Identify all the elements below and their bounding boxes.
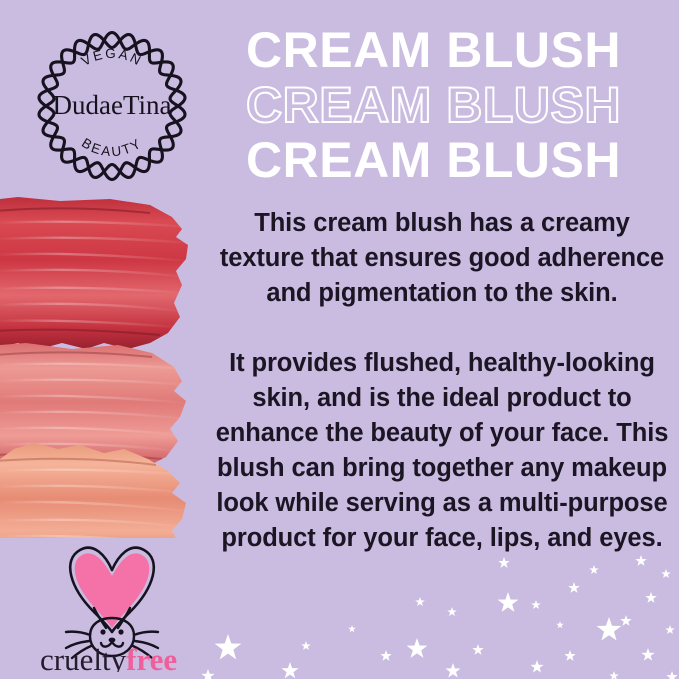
hero-line-2: CREAM BLUSH bbox=[246, 78, 666, 133]
product-description: This cream blush has a creamy texture th… bbox=[214, 206, 670, 556]
hero-line-3: CREAM BLUSH bbox=[246, 133, 666, 188]
free-word: free bbox=[126, 642, 177, 672]
logo-brand-name: DudaeTina bbox=[53, 90, 172, 120]
brand-logo: VEGAN DudaeTina BEAUTY bbox=[28, 22, 196, 190]
star-decoration bbox=[665, 625, 675, 634]
description-paragraph-2: It provides flushed, healthy-looking ski… bbox=[214, 346, 670, 556]
bunny-eye-right bbox=[118, 629, 123, 634]
hero-title: CREAM BLUSH CREAM BLUSH CREAM BLUSH bbox=[246, 23, 666, 188]
star-decoration bbox=[568, 582, 579, 593]
heart-ears-icon bbox=[70, 548, 154, 632]
product-marketing-image: VEGAN DudaeTina BEAUTY CREAM BLUSH CREAM… bbox=[0, 0, 679, 679]
star-decoration bbox=[564, 650, 575, 661]
cruelty-free-wordmark: crueltyfree bbox=[40, 642, 177, 672]
paragraph-spacer bbox=[214, 311, 670, 346]
star-decoration bbox=[348, 625, 356, 632]
star-decoration bbox=[415, 597, 425, 606]
swatch-red bbox=[0, 193, 208, 353]
star-decoration bbox=[215, 634, 242, 659]
star-decoration bbox=[531, 600, 541, 609]
star-decoration bbox=[609, 671, 619, 679]
cruelty-word: cruelty bbox=[40, 642, 127, 672]
star-decoration bbox=[445, 663, 460, 677]
star-decoration bbox=[530, 660, 543, 673]
logo-beauty-text: BEAUTY bbox=[79, 135, 145, 159]
description-paragraph-1: This cream blush has a creamy texture th… bbox=[214, 206, 670, 311]
cruelty-free-badge: crueltyfree bbox=[32, 536, 212, 672]
star-decoration bbox=[498, 557, 509, 568]
star-decoration bbox=[589, 565, 599, 574]
star-decoration bbox=[301, 641, 311, 650]
star-decoration bbox=[556, 621, 564, 628]
hero-line-1: CREAM BLUSH bbox=[246, 23, 666, 78]
star-decoration bbox=[661, 569, 671, 578]
star-decoration bbox=[666, 671, 677, 679]
star-decoration bbox=[498, 592, 519, 612]
blush-swatch-stack bbox=[0, 193, 208, 538]
star-decoration bbox=[447, 607, 457, 616]
star-decoration bbox=[641, 648, 654, 661]
star-decoration bbox=[407, 638, 428, 658]
star-decoration bbox=[472, 644, 483, 655]
swatch-peach bbox=[0, 441, 208, 538]
star-decoration bbox=[281, 662, 298, 678]
star-decoration bbox=[597, 617, 622, 641]
bunny-eye-left bbox=[100, 629, 105, 634]
star-decoration bbox=[645, 592, 656, 603]
star-decoration bbox=[380, 650, 391, 661]
star-decoration bbox=[620, 615, 631, 626]
star-decoration bbox=[635, 555, 646, 566]
